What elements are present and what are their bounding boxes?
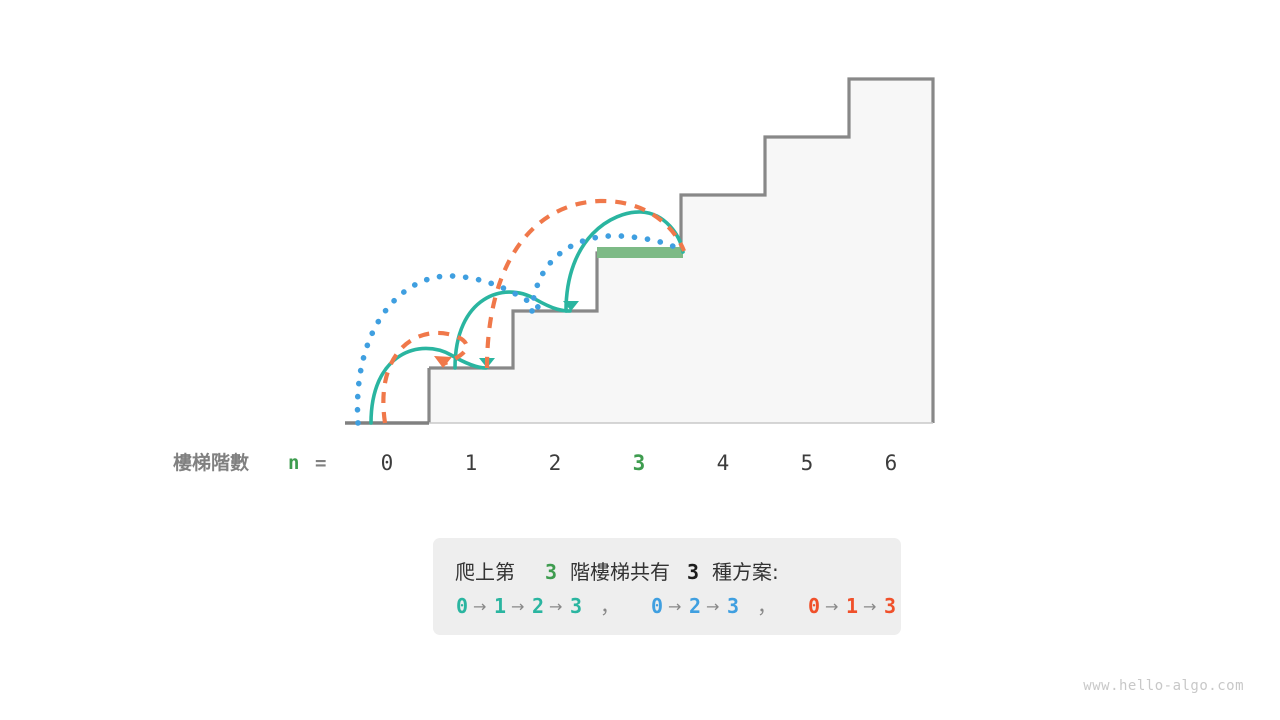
axis-tick-1: 1 [465,451,478,475]
sol2-arrow-1: → [706,597,719,616]
watermark: www.hello-algo.com [1083,678,1244,694]
sol1-arrow-0: → [473,597,486,616]
sol1-arrow-1: → [511,597,524,616]
axis-variable: n [288,452,299,474]
caption-line1-middle: 階樓梯共有 [570,560,670,584]
axis-labels: 樓梯階數 n = 0 1 2 3 4 5 6 [173,451,897,475]
sol1-arrow-2: → [549,597,562,616]
stairs-diagram-svg: 樓梯階數 n = 0 1 2 3 4 5 6 爬上第 3 階樓梯共有 3 種方案… [0,0,1280,720]
sol3-node-0: 0 [808,594,820,618]
caption-line1-suffix: 種方案: [712,560,779,584]
caption-line1-count: 3 [687,560,699,584]
caption-line1-prefix: 爬上第 [455,560,515,584]
sol1-node-0: 0 [456,594,468,618]
axis-tick-3: 3 [633,451,646,475]
caption-box: 爬上第 3 階樓梯共有 3 種方案: 0 → 1 → 2 → 3 ， 0 → 2… [433,538,901,635]
axis-title: 樓梯階數 [173,451,249,474]
sol1-node-2: 2 [532,594,544,618]
sol1-node-3: 3 [570,594,582,618]
axis-tick-4: 4 [717,451,730,475]
orange-arrowhead-1 [434,356,452,368]
sol2-node-2: 3 [727,594,739,618]
sol1-node-1: 1 [494,594,506,618]
axis-tick-6: 6 [885,451,898,475]
orange-arrowheads [434,356,452,368]
sol3-node-1: 1 [846,594,858,618]
axis-equals: = [315,452,326,474]
caption-background [433,538,901,635]
axis-tick-0: 0 [381,451,394,475]
sol3-arrow-1: → [863,597,876,616]
sol2-node-0: 0 [651,594,663,618]
sol2-arrow-0: → [668,597,681,616]
caption-line1-step: 3 [545,560,557,584]
sol2-node-1: 2 [689,594,701,618]
caption-separator-2: ， [757,594,777,618]
highlighted-step-tread [597,247,683,258]
sol3-node-2: 3 [884,594,896,618]
staircase-group [345,79,933,423]
axis-tick-5: 5 [801,451,814,475]
caption-separator-1: ， [600,594,620,618]
sol3-arrow-0: → [825,597,838,616]
figure-canvas: 樓梯階數 n = 0 1 2 3 4 5 6 爬上第 3 階樓梯共有 3 種方案… [0,0,1280,720]
axis-tick-2: 2 [549,451,562,475]
